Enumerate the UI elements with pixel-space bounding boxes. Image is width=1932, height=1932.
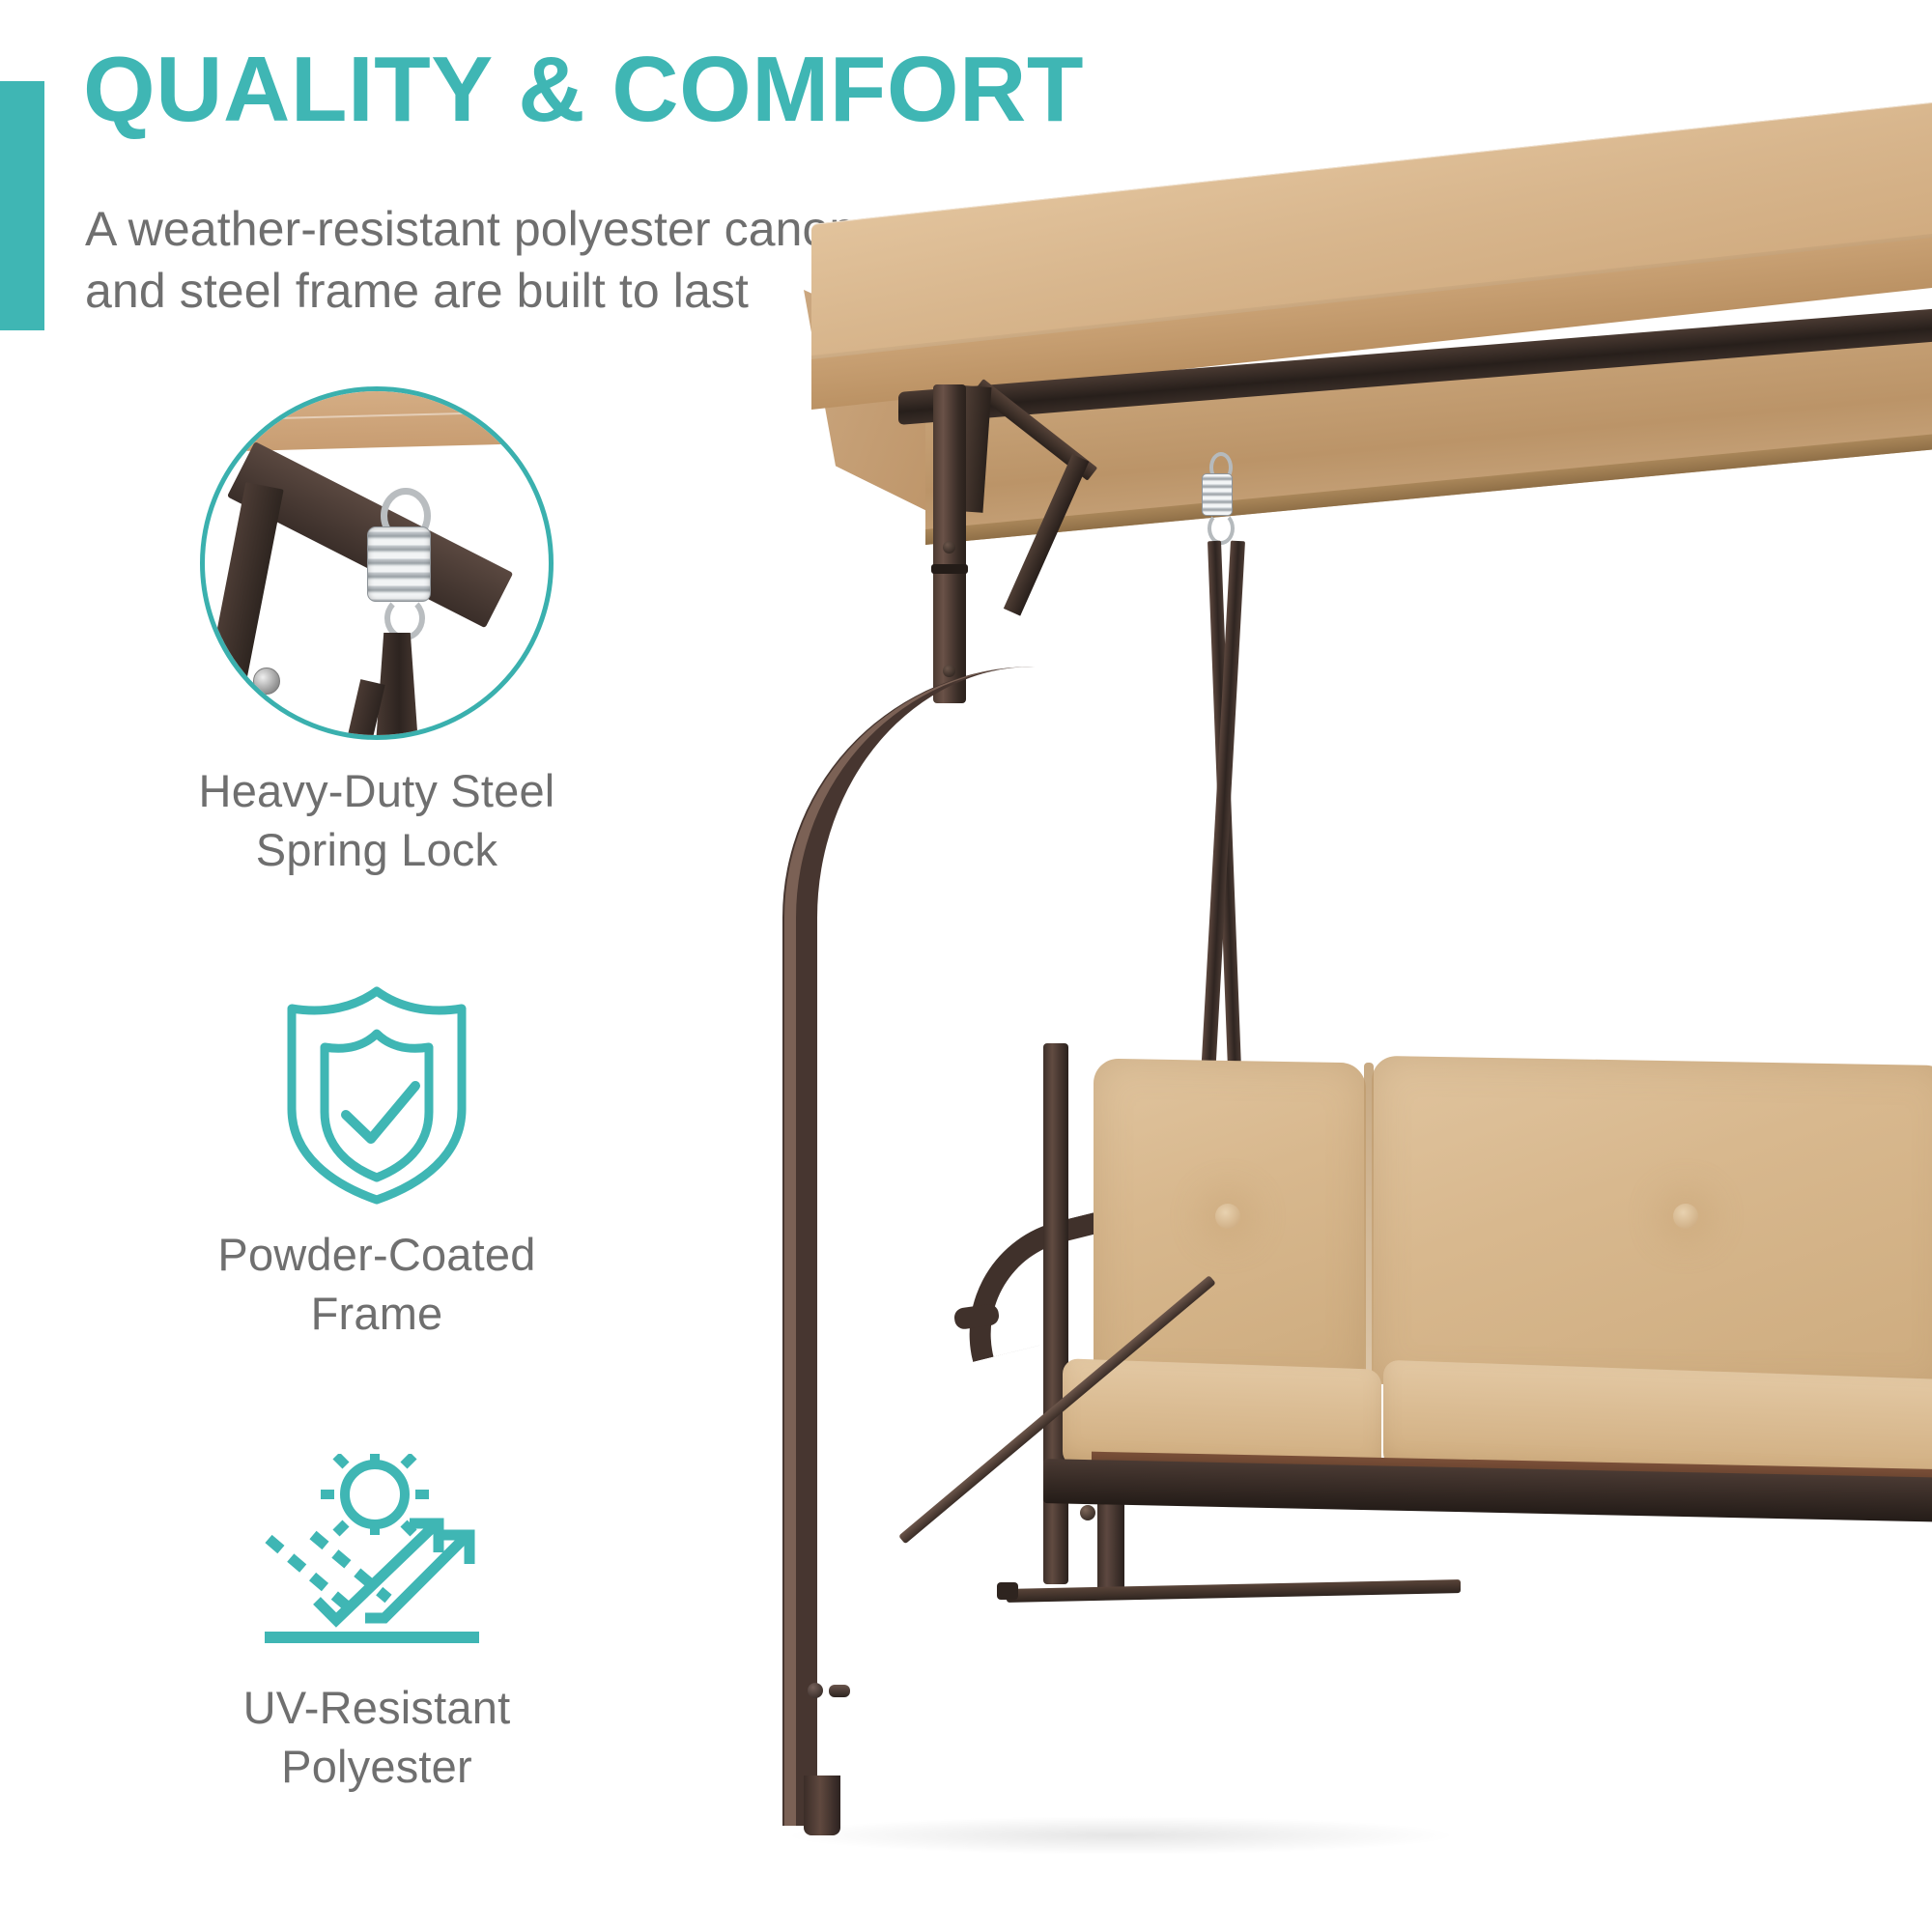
patio-swing-with-canopy-photo: [753, 0, 1932, 1932]
feature-1-line-1: Heavy-Duty Steel: [0, 761, 753, 820]
post-rivet-upper: [943, 541, 955, 554]
inset-vertical-post: [207, 482, 283, 689]
feature-2-line-1: Powder-Coated: [0, 1225, 753, 1284]
feature-1-line-2: Spring Lock: [0, 820, 753, 879]
feature-item-uv-resistant-polyester: UV-Resistant Polyester: [0, 1454, 753, 1796]
feature-3-line-2: Polyester: [0, 1737, 753, 1796]
canopy-post-joint: [931, 564, 968, 574]
lower-floor-bar: [1007, 1579, 1461, 1603]
leg-bolt-cap: [829, 1685, 850, 1697]
uv-resistant-sun-icon: [257, 1454, 497, 1659]
feature-label-powder-coated-frame: Powder-Coated Frame: [0, 1225, 753, 1343]
back-cushion-right: [1372, 1056, 1932, 1394]
feature-2-line-2: Frame: [0, 1284, 753, 1343]
feature-item-spring-lock: Heavy-Duty Steel Spring Lock: [0, 386, 753, 879]
ground-shadow: [782, 1816, 1459, 1855]
post-rivet-lower: [943, 665, 955, 677]
canopy-steel-spring: [1202, 473, 1233, 516]
feature-label-spring-lock: Heavy-Duty Steel Spring Lock: [0, 761, 753, 879]
seat-base-bolt: [1080, 1505, 1095, 1520]
leg-bolt: [808, 1683, 823, 1698]
spring-lock-photo-icon: [200, 386, 554, 740]
feature-3-line-1: UV-Resistant: [0, 1678, 753, 1737]
header-accent-bar: [0, 81, 44, 330]
feature-item-powder-coated-frame: Powder-Coated Frame: [0, 985, 753, 1343]
inset-screw: [253, 668, 280, 695]
canopy-spring-hook: [1207, 512, 1235, 545]
lower-floor-bar-end: [997, 1582, 1018, 1600]
shield-check-icon: [280, 985, 473, 1206]
cushion-button-tuft-right: [1673, 1204, 1698, 1229]
feature-label-uv-resistant-polyester: UV-Resistant Polyester: [0, 1678, 753, 1796]
inset-steel-spring: [367, 526, 431, 602]
cushion-button-tuft-left: [1215, 1204, 1240, 1229]
